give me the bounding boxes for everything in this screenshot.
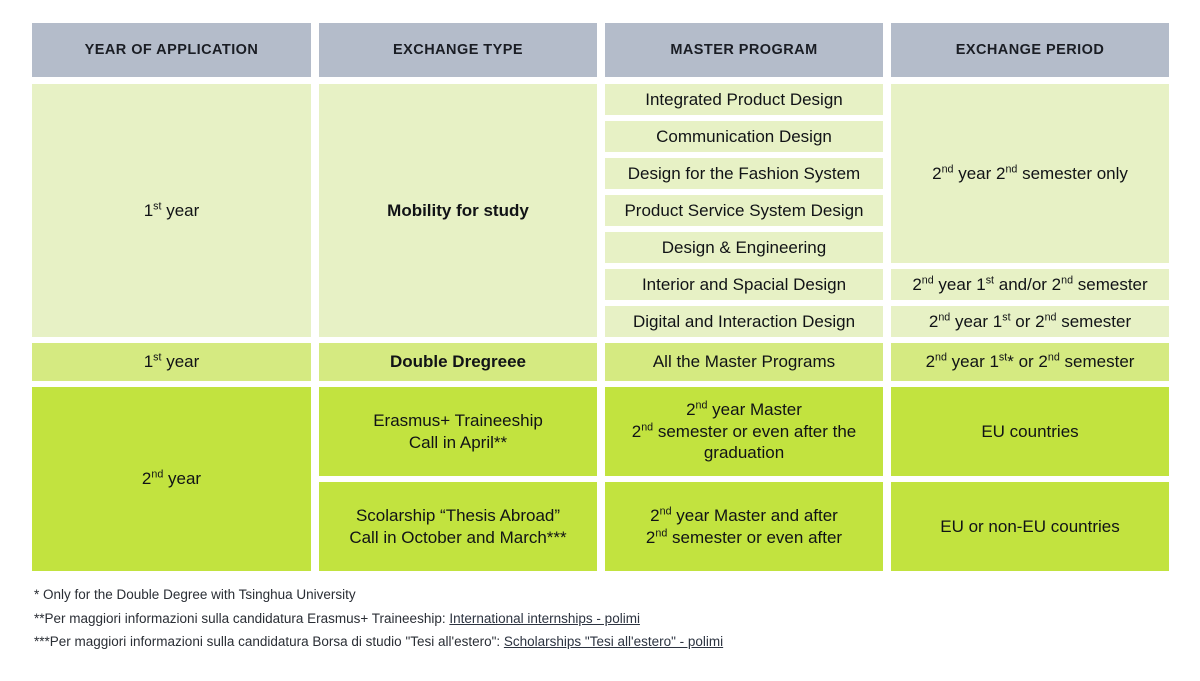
cell-program-erasmus: 2nd year Master 2nd semester or even aft… bbox=[601, 384, 887, 479]
cell-type-erasmus-traineeship: Erasmus+ Traineeship Call in April** bbox=[315, 384, 601, 479]
period-thesis-label: EU or non-EU countries bbox=[891, 512, 1169, 542]
table-row: 1st year Mobility for study Integrated P… bbox=[28, 81, 1173, 118]
footnote-2-text: **Per maggiori informazioni sulla candid… bbox=[34, 611, 449, 626]
cell-period-interior: 2nd year 1st and/or 2nd semester bbox=[887, 266, 1173, 303]
cell-program-interior-and-spacial-design: Interior and Spacial Design bbox=[601, 266, 887, 303]
column-header-exchange-period: EXCHANGE PERIOD bbox=[887, 20, 1173, 81]
column-header-master-program: MASTER PROGRAM bbox=[601, 20, 887, 81]
footnote-3: ***Per maggiori informazioni sulla candi… bbox=[34, 635, 1172, 649]
table-row: 2nd year Erasmus+ Traineeship Call in Ap… bbox=[28, 384, 1173, 479]
program-all-label: All the Master Programs bbox=[605, 347, 883, 377]
program-label: Interior and Spacial Design bbox=[605, 270, 883, 300]
program-label: Communication Design bbox=[605, 122, 883, 152]
cell-year-mobility: 1st year bbox=[28, 81, 315, 340]
type-erasmus-subtitle: Call in April** bbox=[409, 433, 507, 452]
table-header-row: YEAR OF APPLICATION EXCHANGE TYPE MASTER… bbox=[28, 20, 1173, 81]
cell-program-communication-design: Communication Design bbox=[601, 118, 887, 155]
exchange-options-table: YEAR OF APPLICATION EXCHANGE TYPE MASTER… bbox=[28, 20, 1173, 574]
period-group-1-text: 2nd year 2nd semester only bbox=[891, 159, 1169, 189]
cell-program-design-for-the-fashion-system: Design for the Fashion System bbox=[601, 155, 887, 192]
type-mobility-label: Mobility for study bbox=[319, 196, 597, 226]
cell-period-group-1: 2nd year 2nd semester only bbox=[887, 81, 1173, 266]
type-erasmus-block: Erasmus+ Traineeship Call in April** bbox=[319, 406, 597, 458]
type-double-label: Double Dregreee bbox=[319, 347, 597, 377]
type-thesis-block: Scolarship “Thesis Abroad” Call in Octob… bbox=[319, 501, 597, 553]
cell-period-double-degree: 2nd year 1st* or 2nd semester bbox=[887, 340, 1173, 384]
period-digital-text: 2nd year 1st or 2nd semester bbox=[891, 307, 1169, 337]
cell-program-product-service-system-design: Product Service System Design bbox=[601, 192, 887, 229]
program-label: Product Service System Design bbox=[605, 196, 883, 226]
exchange-options-table-page: YEAR OF APPLICATION EXCHANGE TYPE MASTER… bbox=[0, 0, 1200, 681]
cell-program-digital-and-interaction-design: Digital and Interaction Design bbox=[601, 303, 887, 340]
column-header-year-of-application: YEAR OF APPLICATION bbox=[28, 20, 315, 81]
period-erasmus-label: EU countries bbox=[891, 417, 1169, 447]
period-double-text: 2nd year 1st* or 2nd semester bbox=[891, 347, 1169, 377]
footnotes: * Only for the Double Degree with Tsingh… bbox=[28, 588, 1172, 649]
link-international-internships[interactable]: International internships - polimi bbox=[449, 611, 640, 626]
cell-program-design-and-engineering: Design & Engineering bbox=[601, 229, 887, 266]
year-second-text: 2nd year bbox=[32, 464, 311, 494]
program-label: Design & Engineering bbox=[605, 233, 883, 263]
year-double-text: 1st year bbox=[32, 347, 311, 377]
cell-year-second: 2nd year bbox=[28, 384, 315, 574]
program-thesis-text: 2nd year Master and after 2nd semester o… bbox=[605, 501, 883, 553]
link-scholarships-tesi-allestero[interactable]: Scholarships "Tesi all'estero" - polimi bbox=[504, 634, 723, 649]
cell-period-digital: 2nd year 1st or 2nd semester bbox=[887, 303, 1173, 340]
cell-period-erasmus: EU countries bbox=[887, 384, 1173, 479]
cell-period-thesis: EU or non-EU countries bbox=[887, 479, 1173, 574]
footnote-1: * Only for the Double Degree with Tsingh… bbox=[34, 588, 1172, 602]
program-label: Digital and Interaction Design bbox=[605, 307, 883, 337]
type-thesis-title: Scolarship “Thesis Abroad” bbox=[356, 506, 560, 525]
program-erasmus-text: 2nd year Master 2nd semester or even aft… bbox=[605, 395, 883, 468]
footnote-2: **Per maggiori informazioni sulla candid… bbox=[34, 612, 1172, 626]
type-thesis-subtitle: Call in October and March*** bbox=[349, 528, 566, 547]
program-label: Integrated Product Design bbox=[605, 85, 883, 115]
type-erasmus-title: Erasmus+ Traineeship bbox=[373, 411, 543, 430]
cell-program-integrated-product-design: Integrated Product Design bbox=[601, 81, 887, 118]
cell-type-thesis-abroad: Scolarship “Thesis Abroad” Call in Octob… bbox=[315, 479, 601, 574]
period-interior-text: 2nd year 1st and/or 2nd semester bbox=[891, 270, 1169, 300]
cell-type-double-degree: Double Dregreee bbox=[315, 340, 601, 384]
cell-type-mobility: Mobility for study bbox=[315, 81, 601, 340]
footnote-3-text: ***Per maggiori informazioni sulla candi… bbox=[34, 634, 504, 649]
column-header-exchange-type: EXCHANGE TYPE bbox=[315, 20, 601, 81]
year-mobility-text: 1st year bbox=[32, 196, 311, 226]
program-label: Design for the Fashion System bbox=[605, 159, 883, 189]
cell-year-double-degree: 1st year bbox=[28, 340, 315, 384]
cell-program-thesis: 2nd year Master and after 2nd semester o… bbox=[601, 479, 887, 574]
cell-program-all-master-programs: All the Master Programs bbox=[601, 340, 887, 384]
table-row: 1st year Double Dregreee All the Master … bbox=[28, 340, 1173, 384]
